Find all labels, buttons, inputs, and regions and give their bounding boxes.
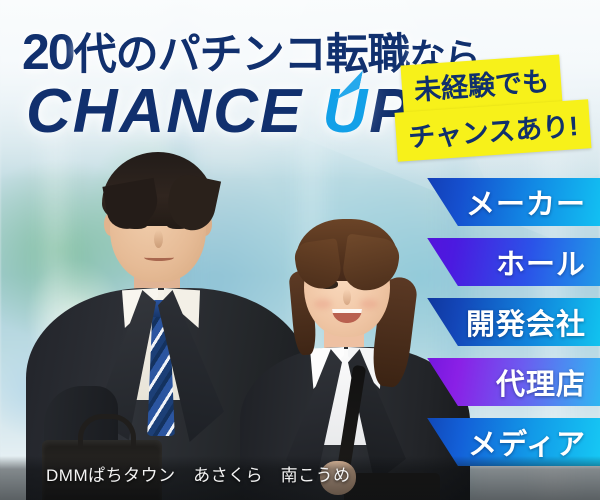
logo-word-chance: CHANCE bbox=[26, 77, 303, 146]
logo-letter-u-wrap: U bbox=[322, 76, 369, 147]
category-bar-agency[interactable]: 代理店 bbox=[408, 358, 600, 406]
headline-middle: 代のパチンコ転職 bbox=[74, 31, 410, 79]
pachinko-job-banner-ad[interactable]: 20代のパチンコ転職なら CHANCE U P 未経験でも チャンスあり! メー… bbox=[0, 0, 600, 500]
man-hair bbox=[102, 152, 214, 226]
woman-cheek-left bbox=[314, 299, 332, 309]
category-label-hall: ホール bbox=[496, 241, 586, 283]
category-label-maker: メーカー bbox=[466, 181, 586, 223]
category-label-agency: 代理店 bbox=[496, 361, 586, 403]
headline-number: 20 bbox=[22, 24, 74, 80]
category-bar-developer[interactable]: 開発会社 bbox=[408, 298, 600, 346]
logo-chance-up: CHANCE U P bbox=[26, 76, 413, 147]
man-nose bbox=[154, 230, 163, 248]
caption-credits: DMMぱちタウン あさくら 南こうめ bbox=[46, 461, 351, 486]
woman-cheek-right bbox=[360, 299, 378, 309]
logo-letter-u: U bbox=[322, 77, 369, 146]
woman-nose bbox=[343, 289, 351, 305]
man-mouth bbox=[144, 254, 174, 261]
category-label-developer: 開発会社 bbox=[466, 301, 586, 343]
category-bar-maker[interactable]: メーカー bbox=[408, 178, 600, 226]
category-bar-hall[interactable]: ホール bbox=[408, 238, 600, 286]
category-list: メーカー ホール 開発会社 代理店 メディア bbox=[408, 178, 600, 478]
